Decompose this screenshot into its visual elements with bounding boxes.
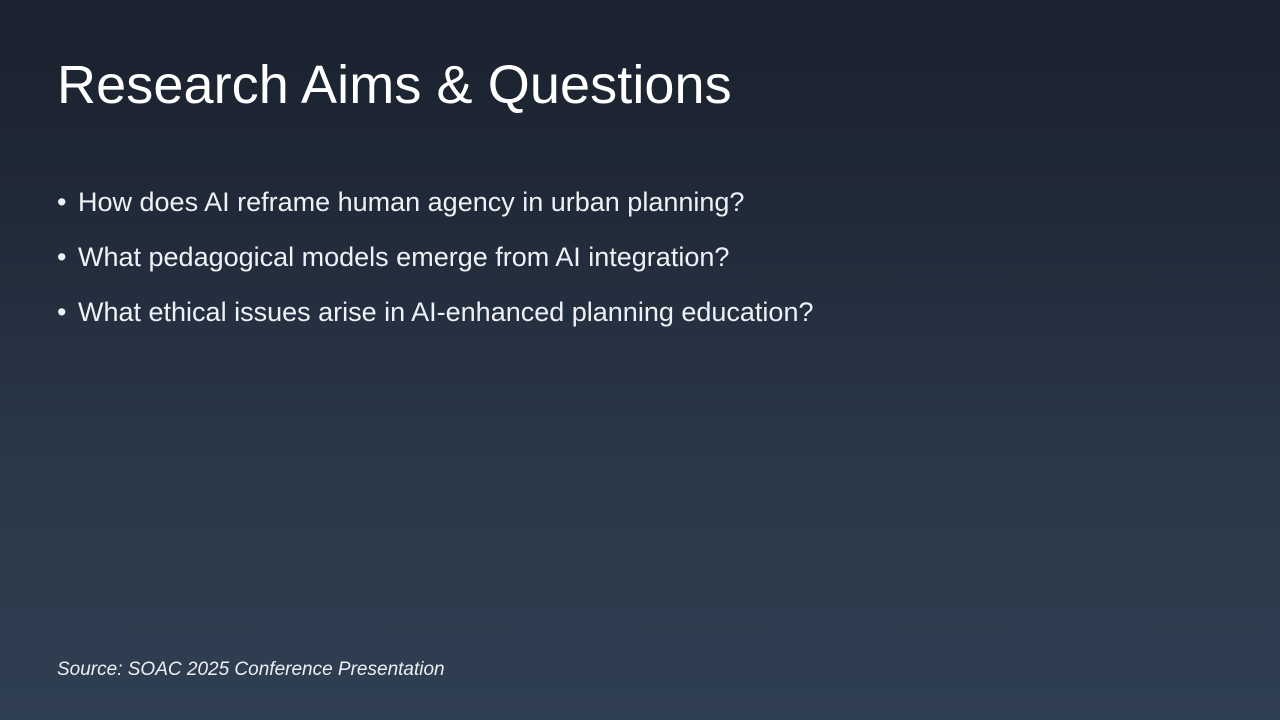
list-item-label: What ethical issues arise in AI-enhanced… xyxy=(78,296,813,329)
research-questions-list: • How does AI reframe human agency in ur… xyxy=(57,186,1217,329)
list-item: • What ethical issues arise in AI-enhanc… xyxy=(57,296,1217,329)
source-attribution: Source: SOAC 2025 Conference Presentatio… xyxy=(57,658,445,683)
list-item: • How does AI reframe human agency in ur… xyxy=(57,186,1217,219)
page-title: Research Aims & Questions xyxy=(57,55,1217,115)
list-item: • What pedagogical models emerge from AI… xyxy=(57,241,1217,274)
list-item-label: How does AI reframe human agency in urba… xyxy=(78,186,744,219)
bullet-icon: • xyxy=(57,296,78,329)
bullet-icon: • xyxy=(57,241,78,274)
presentation-slide: Research Aims & Questions • How does AI … xyxy=(0,0,1280,720)
list-item-label: What pedagogical models emerge from AI i… xyxy=(78,241,729,274)
bullet-icon: • xyxy=(57,186,78,219)
